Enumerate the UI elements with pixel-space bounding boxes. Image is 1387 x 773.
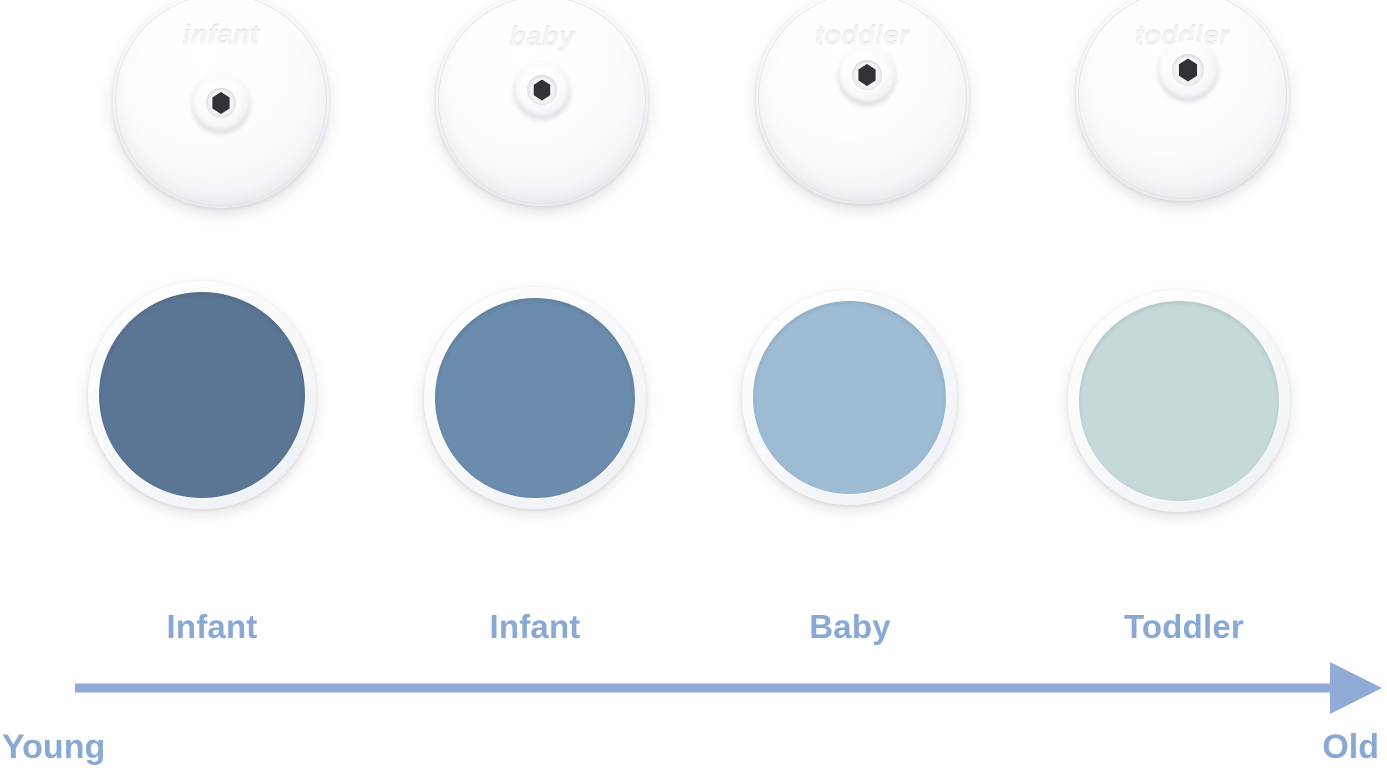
axis-start-label: Young: [2, 728, 105, 767]
arrow-right-icon: [1330, 662, 1382, 714]
infographic-canvas: infant baby toddler toddler: [0, 0, 1387, 773]
axis-end-label: Old: [1322, 728, 1379, 767]
age-axis-arrow: [0, 0, 1387, 773]
